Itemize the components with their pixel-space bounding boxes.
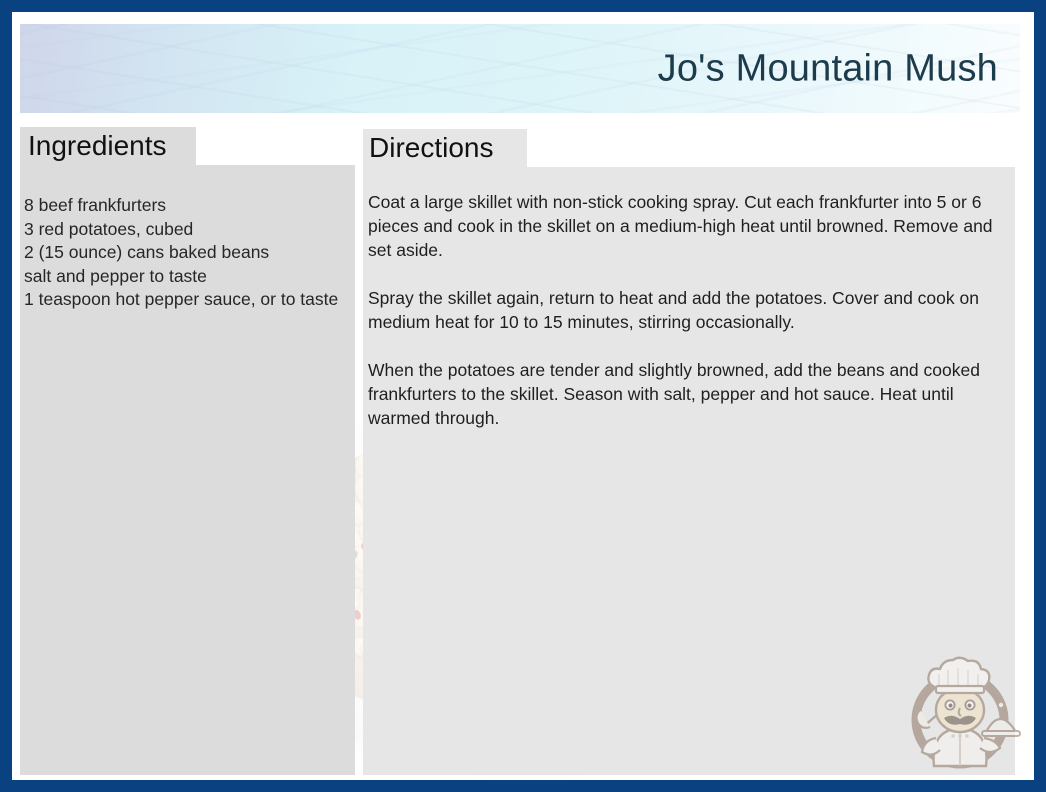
- chef-logo-icon: [898, 648, 1022, 772]
- title-banner: Jo's Mountain Mush: [20, 24, 1020, 113]
- directions-heading: Directions: [369, 132, 493, 164]
- directions-tab: Directions: [363, 129, 527, 168]
- ingredients-tab: Ingredients: [20, 127, 196, 166]
- ingredients-panel: 8 beef frankfurters3 red potatoes, cubed…: [20, 165, 355, 775]
- recipe-card-screen: Jo's Mountain Mush Ingredients 8 beef fr…: [0, 0, 1046, 792]
- ingredient-item: salt and pepper to taste: [24, 265, 345, 289]
- ingredient-item: 2 (15 ounce) cans baked beans: [24, 241, 345, 265]
- ingredient-item: 3 red potatoes, cubed: [24, 218, 345, 242]
- page-title: Jo's Mountain Mush: [658, 47, 998, 90]
- ingredients-list: 8 beef frankfurters3 red potatoes, cubed…: [24, 194, 345, 312]
- ingredient-item: 1 teaspoon hot pepper sauce, or to taste: [24, 288, 345, 312]
- ingredient-item: 8 beef frankfurters: [24, 194, 345, 218]
- ingredients-heading: Ingredients: [28, 130, 167, 162]
